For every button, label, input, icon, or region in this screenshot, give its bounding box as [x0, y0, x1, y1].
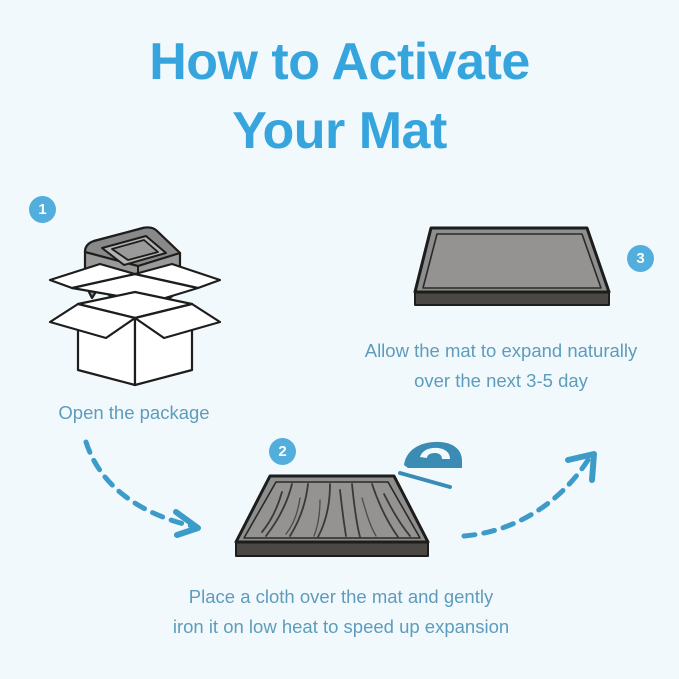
step-2-caption-line-2: iron it on low heat to speed up expansio… [108, 612, 574, 642]
flat-expanded-mat-icon [405, 222, 620, 317]
page-title: How to Activate Your Mat [0, 28, 679, 165]
step-3-caption-line-2: over the next 3-5 day [318, 366, 679, 396]
step-2-badge: 2 [269, 438, 296, 465]
step-3-badge: 3 [627, 245, 654, 272]
step-1-caption-line-1: Open the package [0, 398, 268, 428]
step-1-badge: 1 [29, 196, 56, 223]
step-1-caption: Open the package [0, 398, 268, 428]
mat-with-cloth-icon [232, 470, 432, 565]
dashed-arrow-step2-to-step3 [462, 440, 612, 545]
step-3-caption-line-1: Allow the mat to expand naturally [318, 336, 679, 366]
page-title-line-1: How to Activate [0, 28, 679, 97]
step-2-caption-line-1: Place a cloth over the mat and gently [108, 582, 574, 612]
dashed-arrow-step1-to-step2 [82, 440, 242, 545]
step-3-caption: Allow the mat to expand naturally over t… [318, 336, 679, 396]
step-2-caption: Place a cloth over the mat and gently ir… [108, 582, 574, 642]
open-box-with-mat-icon [40, 222, 230, 387]
page-title-line-2: Your Mat [0, 97, 679, 166]
how-to-activate-mat-infographic: How to Activate Your Mat 1 [0, 0, 679, 679]
